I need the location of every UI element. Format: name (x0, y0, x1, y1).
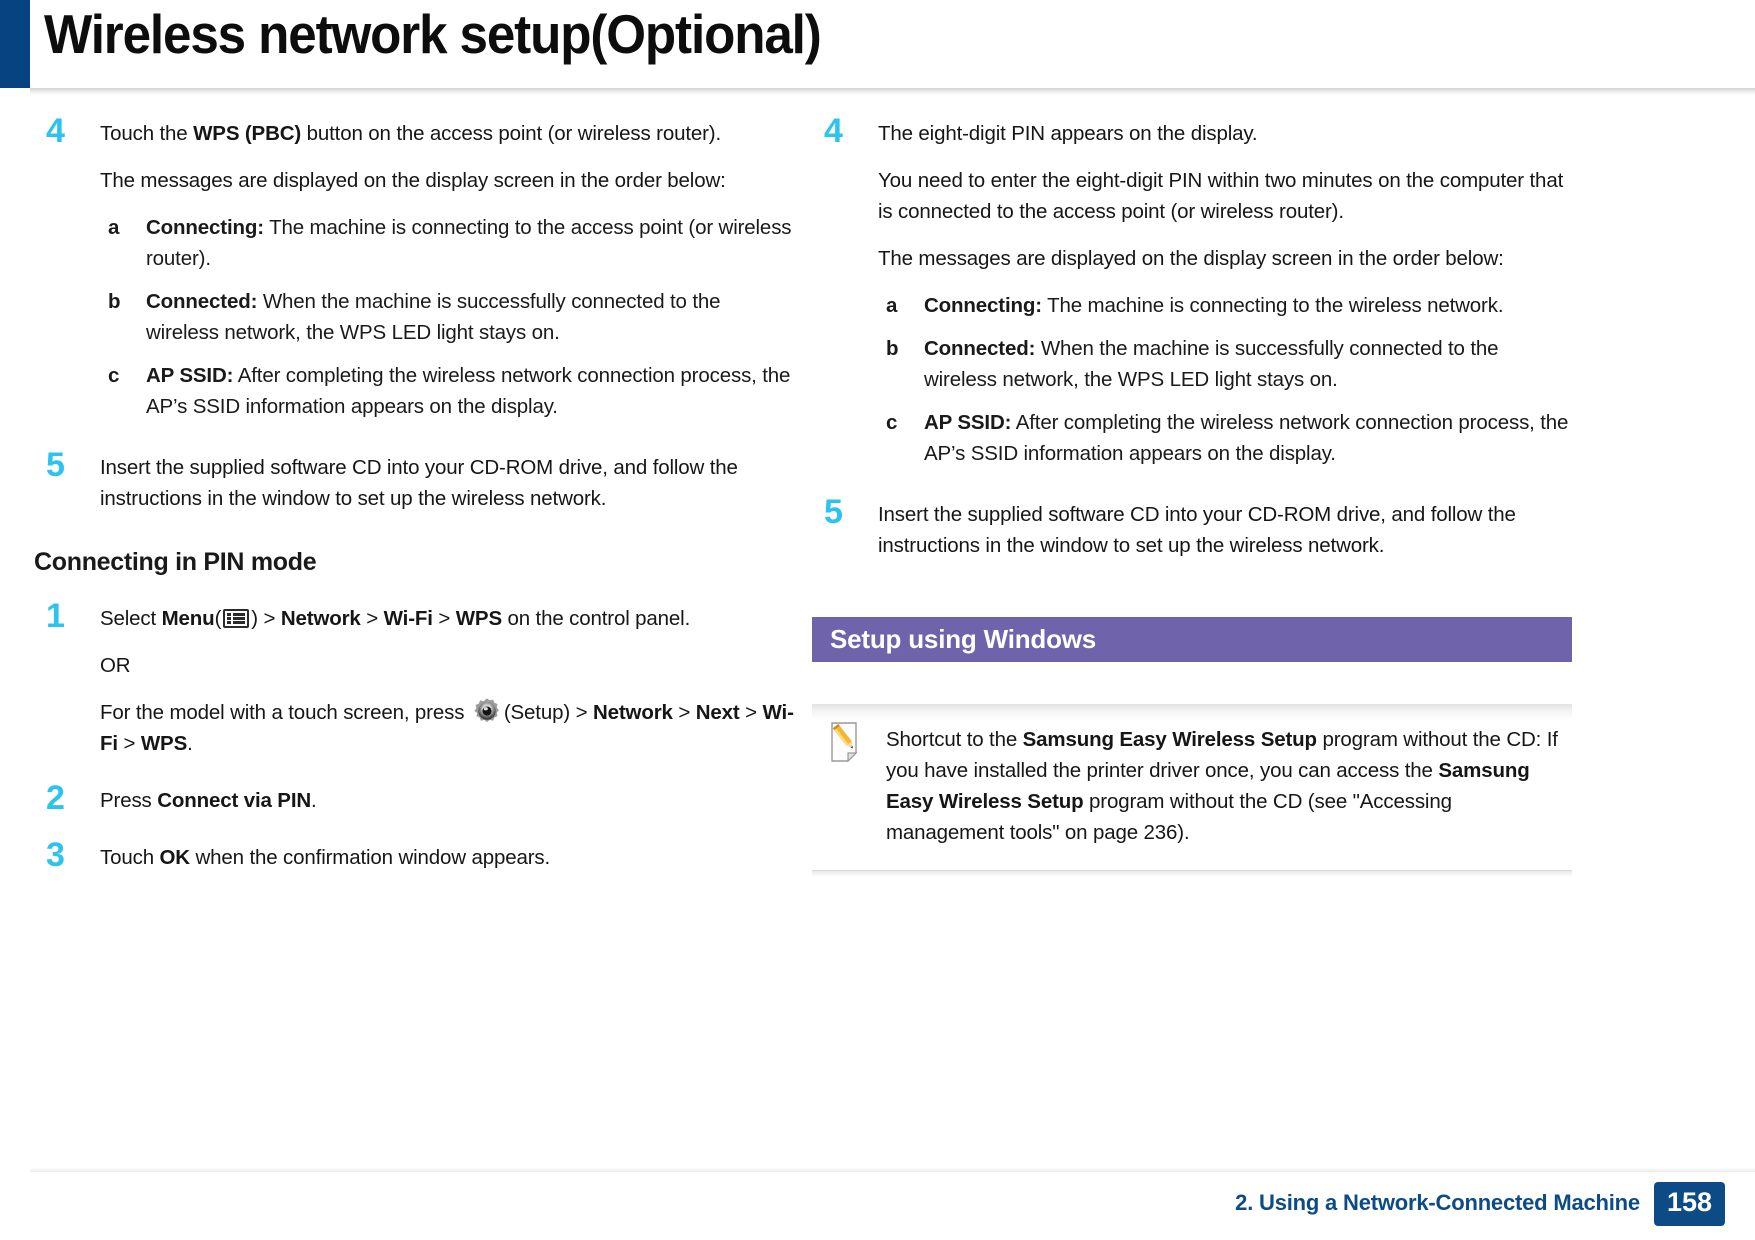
page-title: Wireless network setup(Optional) (44, 2, 821, 66)
step-paragraph: Touch OK when the confirmation window ap… (100, 842, 794, 873)
step-block-4-right: 4 The eight-digit PIN appears on the dis… (812, 118, 1572, 469)
step-block-5-left: 5 Insert the supplied software CD into y… (34, 452, 794, 514)
or-label: OR (100, 650, 794, 681)
step-paragraph: Press Connect via PIN. (100, 785, 794, 816)
list-text: After completing the wireless network co… (924, 411, 1568, 465)
footer-content: 2. Using a Network-Connected Machine 158 (1235, 1182, 1725, 1226)
text-fragment: > (433, 607, 456, 630)
list-term: Connecting: (146, 216, 264, 239)
text-fragment: on the control panel. (502, 607, 690, 630)
step-number: 3 (46, 838, 65, 872)
step-paragraph: The messages are displayed on the displa… (100, 165, 794, 196)
list-marker: b (886, 333, 898, 364)
page-header: Wireless network setup(Optional) (0, 0, 1755, 92)
text-fragment: > (673, 701, 696, 724)
text-fragment: ( (215, 607, 222, 630)
list-term: Connected: (924, 337, 1035, 360)
section-header-bar: Setup using Windows (812, 617, 1572, 662)
step-paragraph: Insert the supplied software CD into you… (878, 499, 1572, 561)
bold-term: Wi-Fi (384, 607, 433, 630)
bold-term: Connect via PIN (157, 789, 311, 812)
bold-term: WPS (141, 732, 187, 755)
text-fragment: > (361, 607, 384, 630)
text-fragment: . (311, 789, 317, 812)
note-pencil-icon (830, 722, 864, 762)
section-subheading: Connecting in PIN mode (34, 548, 794, 577)
note-callout: Shortcut to the Samsung Easy Wireless Se… (812, 704, 1572, 871)
step-block-5-right: 5 Insert the supplied software CD into y… (812, 499, 1572, 561)
text-fragment: Press (100, 789, 157, 812)
step-paragraph: For the model with a touch screen, press… (100, 697, 794, 759)
bold-term: Samsung Easy Wireless Setup (1023, 728, 1317, 751)
bold-term: OK (160, 846, 190, 869)
bold-term: WPS (456, 607, 502, 630)
list-item: c AP SSID: After completing the wireless… (100, 360, 794, 422)
list-marker: b (108, 286, 120, 317)
list-item: a Connecting: The machine is connecting … (878, 290, 1572, 321)
step-number: 5 (46, 448, 65, 482)
step-paragraph: Touch the WPS (PBC) button on the access… (100, 118, 794, 149)
step-paragraph: Select Menu() > Network > Wi-Fi > WPS on… (100, 603, 794, 634)
gear-icon (473, 697, 501, 725)
header-divider (30, 88, 1755, 95)
list-text: After completing the wireless network co… (146, 364, 790, 418)
footer-divider (30, 1168, 1755, 1172)
list-term: AP SSID: (924, 411, 1011, 434)
step-number: 1 (46, 599, 65, 633)
bold-term: Menu (162, 607, 215, 630)
text-fragment: Shortcut to the (886, 728, 1023, 751)
step-block-3-pin: 3 Touch OK when the confirmation window … (34, 842, 794, 873)
right-column: 4 The eight-digit PIN appears on the dis… (812, 118, 1572, 871)
step-number: 4 (824, 114, 843, 148)
page-footer: 2. Using a Network-Connected Machine 158 (0, 1168, 1755, 1240)
list-marker: a (886, 290, 897, 321)
page-number-badge: 158 (1654, 1182, 1725, 1226)
sub-list: a Connecting: The machine is connecting … (878, 290, 1572, 469)
text-fragment: > (118, 732, 141, 755)
text-fragment: > (740, 701, 763, 724)
list-marker: a (108, 212, 119, 243)
list-item: c AP SSID: After completing the wireless… (878, 407, 1572, 469)
list-term: AP SSID: (146, 364, 233, 387)
step-number: 5 (824, 495, 843, 529)
header-accent-bar (0, 0, 30, 88)
step-paragraph: You need to enter the eight-digit PIN wi… (878, 165, 1572, 227)
bold-term: Network (593, 701, 673, 724)
list-term: Connecting: (924, 294, 1042, 317)
list-item: b Connected: When the machine is success… (878, 333, 1572, 395)
step-paragraph: The messages are displayed on the displa… (878, 243, 1572, 274)
sub-list: a Connecting: The machine is connecting … (100, 212, 794, 422)
bold-term: Next (696, 701, 740, 724)
note-text: Shortcut to the Samsung Easy Wireless Se… (886, 724, 1558, 848)
footer-chapter-label: 2. Using a Network-Connected Machine (1235, 1182, 1654, 1226)
text-fragment: > (570, 701, 593, 724)
step-paragraph: Insert the supplied software CD into you… (100, 452, 794, 514)
text-fragment: Select (100, 607, 162, 630)
step-number: 4 (46, 114, 65, 148)
list-term: Connected: (146, 290, 257, 313)
list-item: a Connecting: The machine is connecting … (100, 212, 794, 274)
step-block-4-left: 4 Touch the WPS (PBC) button on the acce… (34, 118, 794, 422)
text-fragment: ) (251, 607, 258, 630)
text-fragment: For the model with a touch screen, press (100, 701, 470, 724)
text-fragment: Touch (100, 846, 160, 869)
text-fragment: > (258, 607, 281, 630)
menu-icon (223, 609, 249, 628)
step-block-2-pin: 2 Press Connect via PIN. (34, 785, 794, 816)
step-number: 2 (46, 781, 65, 815)
list-marker: c (108, 360, 119, 391)
bold-term: Network (281, 607, 361, 630)
list-marker: c (886, 407, 897, 438)
text-fragment: . (187, 732, 193, 755)
text-fragment: (Setup) (504, 701, 570, 724)
list-item: b Connected: When the machine is success… (100, 286, 794, 348)
section-header-title: Setup using Windows (830, 624, 1096, 655)
step-block-1-pin: 1 Select Menu() > Network > Wi-Fi > WPS … (34, 603, 794, 759)
left-column: 4 Touch the WPS (PBC) button on the acce… (34, 118, 794, 893)
list-text: The machine is connecting to the wireles… (1047, 294, 1503, 317)
bold-term: WPS (PBC) (193, 122, 301, 145)
step-paragraph: The eight-digit PIN appears on the displ… (878, 118, 1572, 149)
text-fragment: when the confirmation window appears. (190, 846, 550, 869)
